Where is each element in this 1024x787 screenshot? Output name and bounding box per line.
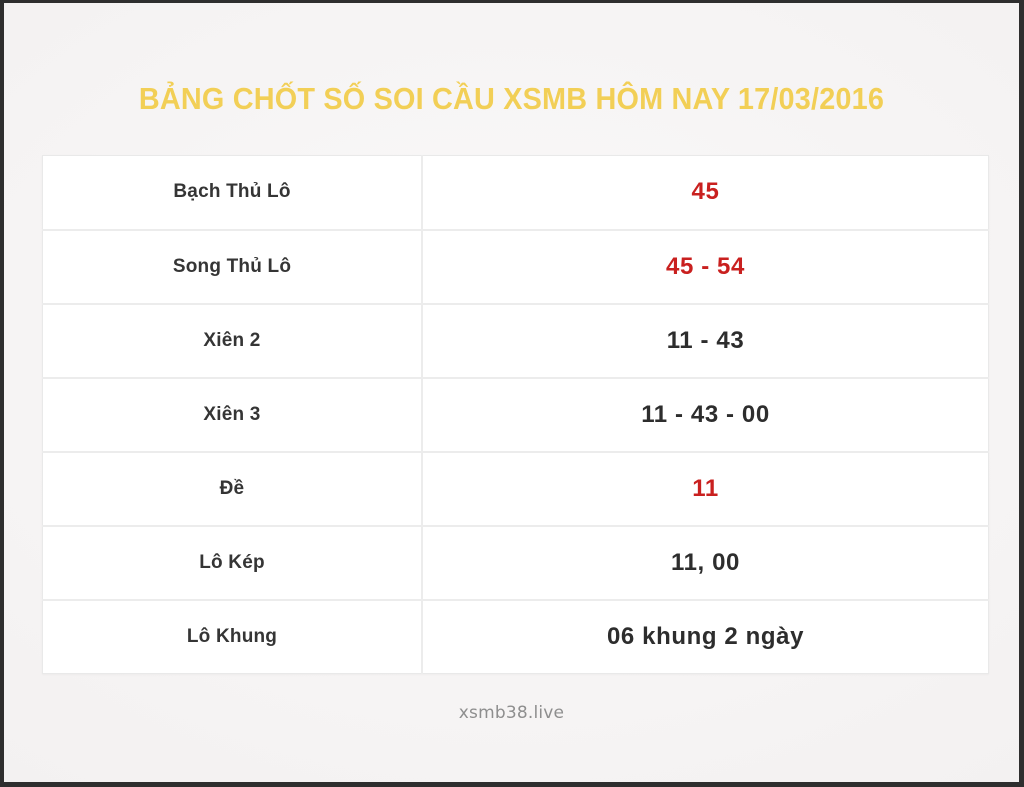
table-body: Bạch Thủ Lô 45 Song Thủ Lô 45 - 54 Xiên … (43, 156, 989, 674)
lottery-prediction-table: Bạch Thủ Lô 45 Song Thủ Lô 45 - 54 Xiên … (42, 155, 989, 674)
page-title: BẢNG CHỐT SỐ SOI CẦU XSMB HÔM NAY 17/03/… (40, 81, 984, 117)
table-row: Song Thủ Lô 45 - 54 (43, 230, 989, 304)
page-frame: BẢNG CHỐT SỐ SOI CẦU XSMB HÔM NAY 17/03/… (0, 0, 1024, 787)
row-label: Bạch Thủ Lô (43, 156, 423, 230)
row-value: 11 (422, 452, 989, 526)
row-value: 11 - 43 - 00 (422, 378, 989, 452)
row-value: 45 (422, 156, 989, 230)
table-row: Lô Khung 06 khung 2 ngày (43, 600, 989, 674)
row-label: Đề (43, 452, 423, 526)
row-value: 11 - 43 (422, 304, 989, 378)
table-row: Đề 11 (43, 452, 989, 526)
row-label: Xiên 3 (43, 378, 423, 452)
table-row: Xiên 3 11 - 43 - 00 (43, 378, 989, 452)
row-label: Lô Kép (43, 526, 423, 600)
site-watermark: xsmb38.live (4, 703, 1019, 723)
table-row: Lô Kép 11, 00 (43, 526, 989, 600)
row-value: 06 khung 2 ngày (422, 600, 989, 674)
table-row: Bạch Thủ Lô 45 (43, 156, 989, 230)
row-label: Lô Khung (43, 600, 423, 674)
row-value: 11, 00 (422, 526, 989, 600)
row-label: Song Thủ Lô (43, 230, 423, 304)
content-card: BẢNG CHỐT SỐ SOI CẦU XSMB HÔM NAY 17/03/… (4, 3, 1019, 782)
row-label: Xiên 2 (43, 304, 423, 378)
row-value: 45 - 54 (422, 230, 989, 304)
table-row: Xiên 2 11 - 43 (43, 304, 989, 378)
